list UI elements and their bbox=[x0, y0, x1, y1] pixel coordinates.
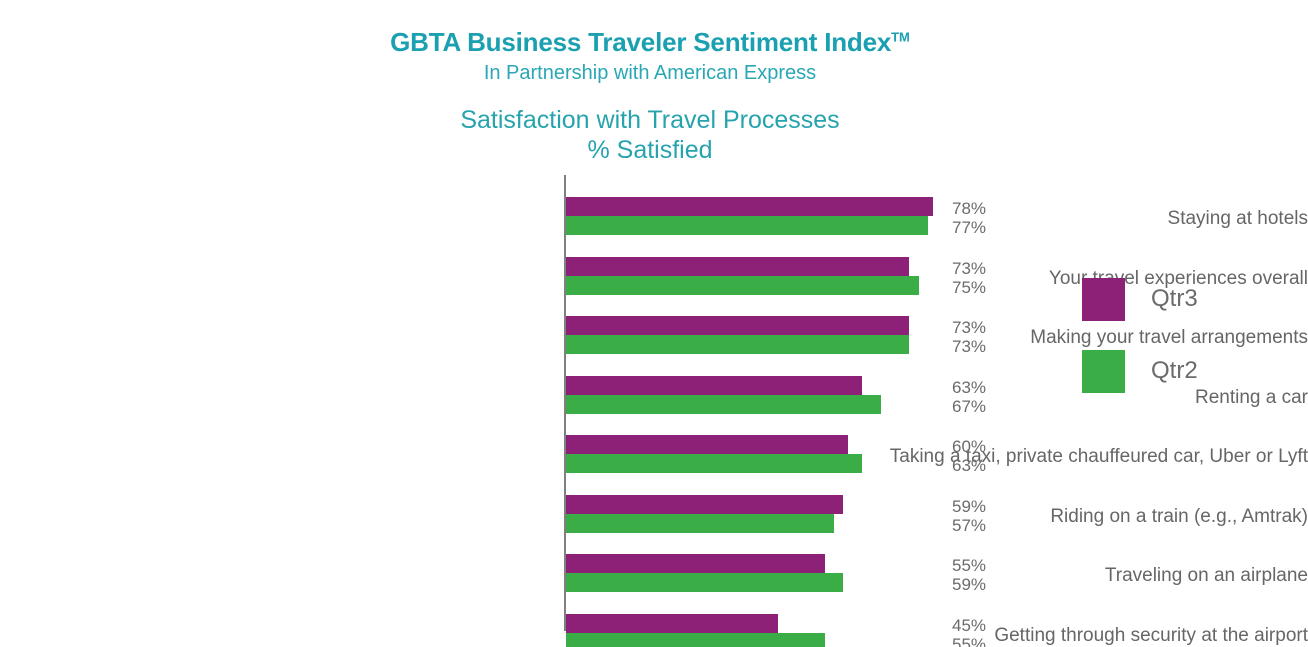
legend-swatch-qtr2 bbox=[1082, 350, 1125, 393]
bar-qtr2 bbox=[566, 633, 825, 647]
chart-legend: Qtr3 Qtr2 bbox=[1082, 276, 1198, 420]
legend-item-qtr2: Qtr2 bbox=[1082, 348, 1198, 394]
data-label-qtr3: 78% bbox=[952, 200, 986, 217]
data-label-qtr3: 59% bbox=[952, 498, 986, 515]
legend-label-qtr2: Qtr2 bbox=[1151, 359, 1198, 383]
bar-qtr2 bbox=[566, 514, 834, 533]
legend-swatch-qtr3 bbox=[1082, 278, 1125, 321]
bar-qtr3 bbox=[566, 376, 862, 395]
data-label-qtr2: 55% bbox=[952, 636, 986, 647]
data-label-qtr3: 73% bbox=[952, 260, 986, 277]
bar-qtr2 bbox=[566, 335, 909, 354]
bar-qtr3 bbox=[566, 197, 933, 216]
bar-qtr2 bbox=[566, 276, 919, 295]
data-label-qtr3: 60% bbox=[952, 438, 986, 455]
legend-item-qtr3: Qtr3 bbox=[1082, 276, 1198, 322]
bar-qtr2 bbox=[566, 573, 843, 592]
bar-qtr2 bbox=[566, 454, 862, 473]
chart-page: GBTA Business Traveler Sentiment IndexTM… bbox=[0, 0, 1308, 647]
data-label-qtr2: 59% bbox=[952, 576, 986, 593]
data-label-qtr2: 73% bbox=[952, 338, 986, 355]
legend-label-qtr3: Qtr3 bbox=[1151, 287, 1198, 311]
bar-qtr2 bbox=[566, 216, 928, 235]
bar-qtr3 bbox=[566, 614, 778, 633]
data-label-qtr2: 57% bbox=[952, 517, 986, 534]
bar-qtr3 bbox=[566, 495, 843, 514]
data-label-qtr3: 55% bbox=[952, 557, 986, 574]
data-label-qtr3: 45% bbox=[952, 617, 986, 634]
data-label-qtr2: 75% bbox=[952, 279, 986, 296]
bar-qtr3 bbox=[566, 435, 848, 454]
bar-qtr3 bbox=[566, 257, 909, 276]
data-label-qtr3: 63% bbox=[952, 379, 986, 396]
data-label-qtr2: 67% bbox=[952, 398, 986, 415]
category-label: Getting through security at the airport bbox=[754, 626, 1308, 645]
data-label-qtr3: 73% bbox=[952, 319, 986, 336]
data-label-qtr2: 63% bbox=[952, 457, 986, 474]
bar-qtr2 bbox=[566, 395, 881, 414]
bar-qtr3 bbox=[566, 316, 909, 335]
data-label-qtr2: 77% bbox=[952, 219, 986, 236]
bar-qtr3 bbox=[566, 554, 825, 573]
